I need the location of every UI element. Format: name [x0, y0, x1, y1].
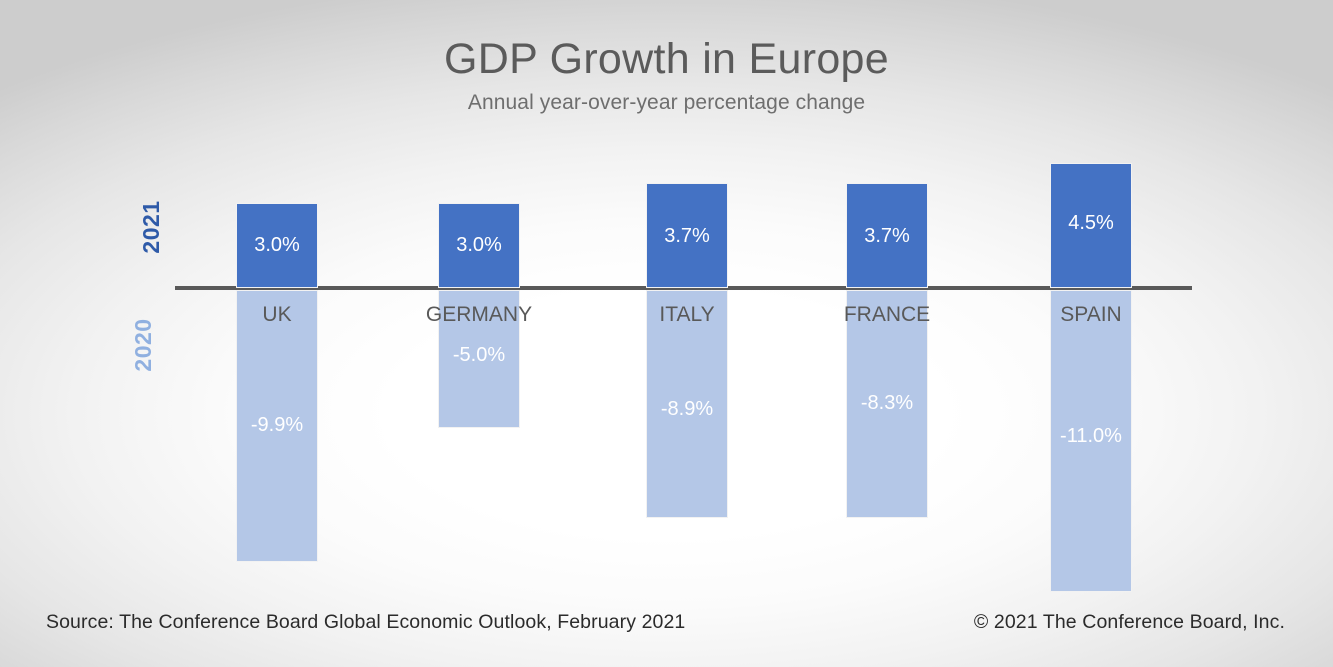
- bar-value-2021-italy: 3.7%: [634, 225, 740, 248]
- category-label-germany: GERMANY: [404, 303, 554, 327]
- category-label-france: FRANCE: [812, 303, 962, 327]
- bar-value-2020-france: -8.3%: [834, 392, 940, 415]
- source-note: Source: The Conference Board Global Econ…: [46, 611, 685, 634]
- bar-group-spain: 4.5% SPAIN -11.0%: [1050, 0, 1132, 667]
- series-label-2021: 2021: [136, 182, 166, 272]
- chart-slide: GDP Growth in Europe Annual year-over-ye…: [0, 0, 1333, 667]
- category-label-italy: ITALY: [612, 303, 762, 327]
- bar-value-2020-uk: -9.9%: [224, 414, 330, 437]
- chart-plot-area: 2021 2020 3.0% UK -9.9% 3.0% GERMANY -5.…: [0, 0, 1333, 667]
- bar-group-france: 3.7% FRANCE -8.3%: [846, 0, 928, 667]
- bar-value-2020-spain: -11.0%: [1038, 425, 1144, 448]
- category-label-spain: SPAIN: [1016, 303, 1166, 327]
- bar-group-uk: 3.0% UK -9.9%: [236, 0, 318, 667]
- bar-value-2021-france: 3.7%: [834, 225, 940, 248]
- series-label-2020: 2020: [128, 300, 158, 390]
- copyright-note: © 2021 The Conference Board, Inc.: [974, 611, 1285, 634]
- bar-value-2020-germany: -5.0%: [426, 344, 532, 367]
- bar-value-2021-spain: 4.5%: [1038, 212, 1144, 235]
- bar-group-italy: 3.7% ITALY -8.9%: [646, 0, 728, 667]
- bar-value-2020-italy: -8.9%: [634, 398, 740, 421]
- bar-group-germany: 3.0% GERMANY -5.0%: [438, 0, 520, 667]
- bar-value-2021-germany: 3.0%: [426, 234, 532, 257]
- bar-value-2021-uk: 3.0%: [224, 234, 330, 257]
- category-label-uk: UK: [202, 303, 352, 327]
